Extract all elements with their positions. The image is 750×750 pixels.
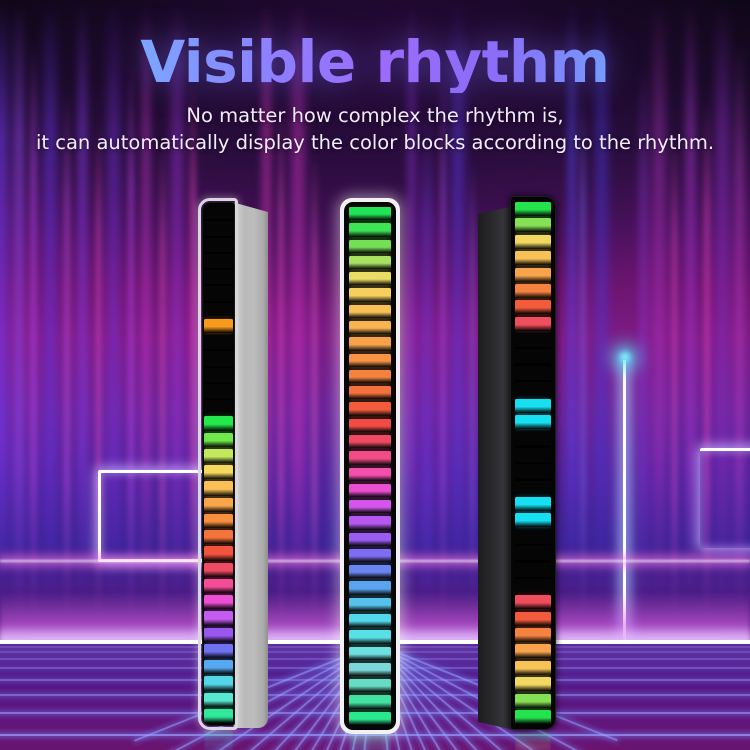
led-segment-lit	[349, 549, 391, 562]
led-segment-lit	[204, 579, 233, 593]
led-segment-off	[515, 579, 551, 593]
led-segment-lit	[349, 256, 391, 269]
led-segment-lit	[349, 516, 391, 529]
led-segment-off	[204, 400, 233, 414]
led-segment-lit	[349, 321, 391, 334]
led-segment-lit	[204, 481, 233, 495]
led-segment-off	[515, 546, 551, 560]
led-segment-off	[204, 303, 233, 317]
led-segment-off	[515, 448, 551, 462]
wall-light-stripe	[580, 90, 586, 620]
led-segment-lit	[349, 386, 391, 399]
led-segment-lit	[515, 202, 551, 216]
device-reflection-segment	[515, 744, 551, 749]
led-segment-lit	[349, 533, 391, 546]
led-segment-lit	[515, 661, 551, 675]
neon-rect-right	[700, 448, 750, 548]
led-segment-lit	[515, 300, 551, 314]
page-subtitle-line-2: it can automatically display the color b…	[0, 130, 750, 157]
led-segment-lit	[204, 660, 233, 674]
led-segment-lit	[204, 433, 233, 447]
led-segment-lit	[204, 416, 233, 430]
led-segment-lit	[515, 415, 551, 429]
led-segment-lit	[349, 695, 391, 708]
led-segment-lit	[204, 465, 233, 479]
device-black[interactable]	[478, 196, 558, 734]
led-segment-off	[515, 349, 551, 363]
product-banner: Visible rhythm No matter how complex the…	[0, 0, 750, 750]
led-segment-lit	[515, 268, 551, 282]
device-reflection-segment	[349, 741, 391, 746]
led-segment-lit	[515, 595, 551, 609]
led-segment-off	[204, 335, 233, 349]
wall-light-stripe	[470, 160, 475, 610]
device-silver[interactable]	[198, 198, 270, 730]
device-reflection-segment	[204, 731, 233, 736]
led-segment-lit	[204, 449, 233, 463]
led-segment-off	[204, 351, 233, 365]
led-segment-lit	[349, 663, 391, 676]
led-segment-off	[515, 530, 551, 544]
led-segment-lit	[349, 468, 391, 481]
led-segment-lit	[204, 628, 233, 642]
led-segment-off	[204, 270, 233, 284]
led-segment-lit	[349, 288, 391, 301]
led-segment-lit	[204, 595, 233, 609]
led-segment-lit	[204, 709, 233, 723]
led-segment-lit	[515, 497, 551, 511]
led-segment-lit	[515, 399, 551, 413]
wall-light-stripe	[312, 150, 317, 620]
led-segment-lit	[349, 419, 391, 432]
page-subtitle-line-1: No matter how complex the rhythm is,	[0, 103, 750, 130]
led-segment-lit	[204, 530, 233, 544]
device-black-led-panel	[515, 202, 551, 724]
led-segment-lit	[349, 565, 391, 578]
led-segment-lit	[349, 240, 391, 253]
led-segment-off	[515, 464, 551, 478]
device-reflection	[204, 730, 233, 750]
led-segment-lit	[349, 207, 391, 220]
led-segment-lit	[349, 598, 391, 611]
led-segment-lit	[515, 251, 551, 265]
device-silver-led-panel	[204, 205, 233, 723]
led-segment-off	[204, 221, 233, 235]
led-segment-lit	[204, 563, 233, 577]
led-segment-lit	[349, 370, 391, 383]
led-segment-lit	[204, 676, 233, 690]
led-segment-lit	[349, 337, 391, 350]
led-segment-lit	[349, 614, 391, 627]
led-segment-lit	[349, 630, 391, 643]
led-segment-lit	[515, 235, 551, 249]
headings: Visible rhythm No matter how complex the…	[0, 0, 750, 157]
led-segment-off	[204, 254, 233, 268]
led-segment-lit	[204, 498, 233, 512]
led-segment-lit	[349, 647, 391, 660]
led-segment-lit	[515, 710, 551, 724]
led-segment-lit	[349, 679, 391, 692]
device-reflection	[515, 732, 551, 750]
led-segment-off	[204, 205, 233, 219]
device-reflection-segment	[349, 746, 391, 750]
page-title: Visible rhythm	[0, 32, 750, 93]
device-reflection-segment	[204, 737, 233, 742]
led-segment-off	[515, 333, 551, 347]
led-segment-lit	[515, 677, 551, 691]
device-black-body	[478, 206, 514, 730]
led-segment-lit	[204, 546, 233, 560]
device-reflection-segment	[204, 742, 233, 747]
led-segment-lit	[204, 693, 233, 707]
led-segment-lit	[515, 628, 551, 642]
wall-light-stripe	[64, 90, 70, 620]
led-segment-off	[515, 481, 551, 495]
device-white-led-panel	[349, 207, 391, 725]
led-segment-lit	[204, 514, 233, 528]
wall-light-stripe	[278, 100, 284, 620]
led-segment-lit	[204, 644, 233, 658]
led-segment-lit	[204, 319, 233, 333]
led-segment-off	[204, 368, 233, 382]
led-segment-off	[515, 382, 551, 396]
led-segment-off	[204, 384, 233, 398]
led-segment-lit	[349, 223, 391, 236]
led-segment-lit	[349, 402, 391, 415]
led-segment-lit	[349, 484, 391, 497]
wall-light-stripe	[422, 110, 432, 620]
device-reflection	[349, 734, 391, 750]
led-segment-lit	[349, 500, 391, 513]
led-segment-off	[515, 366, 551, 380]
neon-dot-right	[620, 352, 630, 362]
device-reflection-segment	[515, 739, 551, 744]
led-segment-lit	[349, 581, 391, 594]
led-segment-lit	[515, 644, 551, 658]
led-segment-lit	[349, 712, 391, 725]
led-segment-lit	[515, 218, 551, 232]
led-segment-lit	[515, 612, 551, 626]
led-segment-lit	[349, 451, 391, 464]
neon-rect-left	[98, 470, 208, 562]
led-segment-lit	[349, 354, 391, 367]
led-segment-off	[515, 431, 551, 445]
led-segment-lit	[349, 435, 391, 448]
led-segment-lit	[515, 284, 551, 298]
wall-light-stripe	[672, 130, 677, 620]
device-white[interactable]	[340, 198, 400, 734]
led-segment-lit	[349, 305, 391, 318]
led-segment-lit	[515, 694, 551, 708]
led-segment-off	[515, 563, 551, 577]
led-segment-lit	[204, 611, 233, 625]
led-segment-lit	[515, 513, 551, 527]
device-reflection-segment	[349, 735, 391, 740]
led-segment-lit	[349, 272, 391, 285]
page-subtitle: No matter how complex the rhythm is, it …	[0, 103, 750, 157]
led-segment-off	[204, 238, 233, 252]
led-segment-off	[204, 286, 233, 300]
led-segment-lit	[515, 317, 551, 331]
